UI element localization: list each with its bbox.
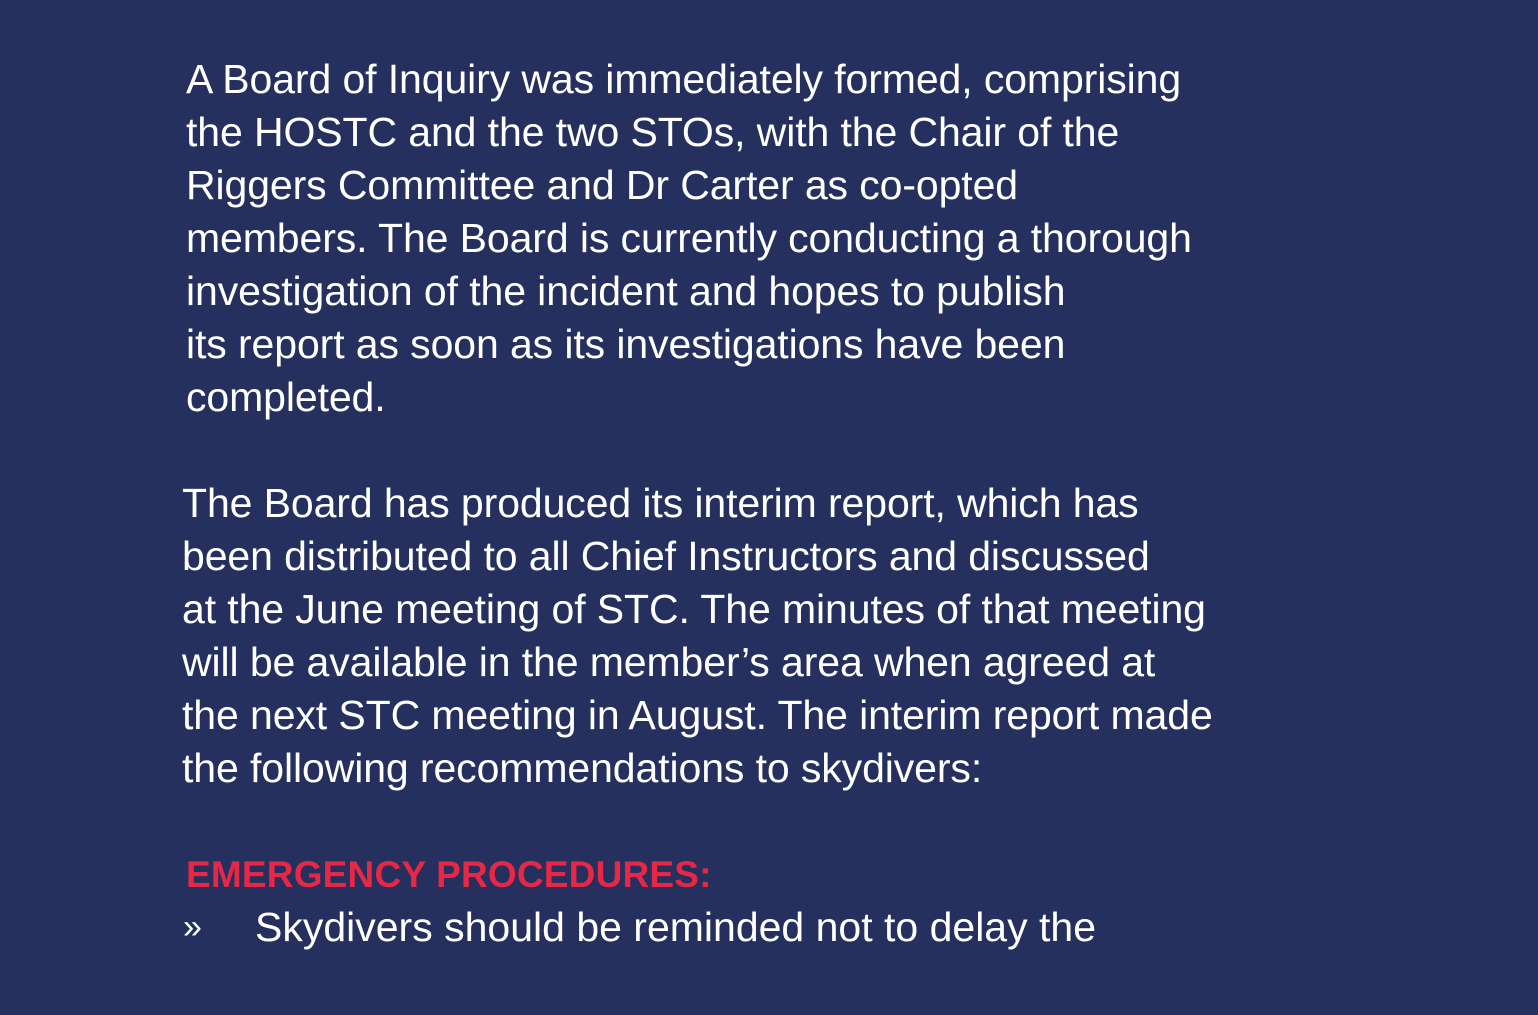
list-item-label: Skydivers should be reminded not to dela…: [255, 901, 1538, 954]
paragraph-spacer: [0, 795, 1538, 848]
heading-emergency-procedures: EMERGENCY PROCEDURES:: [0, 848, 1538, 901]
paragraph-spacer: [0, 0, 1538, 53]
document-page: Skydiving. A Board of Inquiry was immedi…: [0, 0, 1538, 1015]
list-item: » Skydivers should be reminded not to de…: [0, 901, 1538, 954]
paragraph-spacer: [0, 424, 1538, 477]
guillemet-bullet-icon: »: [183, 901, 255, 954]
document-body: Skydiving. A Board of Inquiry was immedi…: [0, 0, 1538, 954]
paragraph-interim-report: The Board has produced its interim repor…: [0, 477, 1538, 795]
paragraph-board-of-inquiry: A Board of Inquiry was immediately forme…: [0, 53, 1538, 424]
